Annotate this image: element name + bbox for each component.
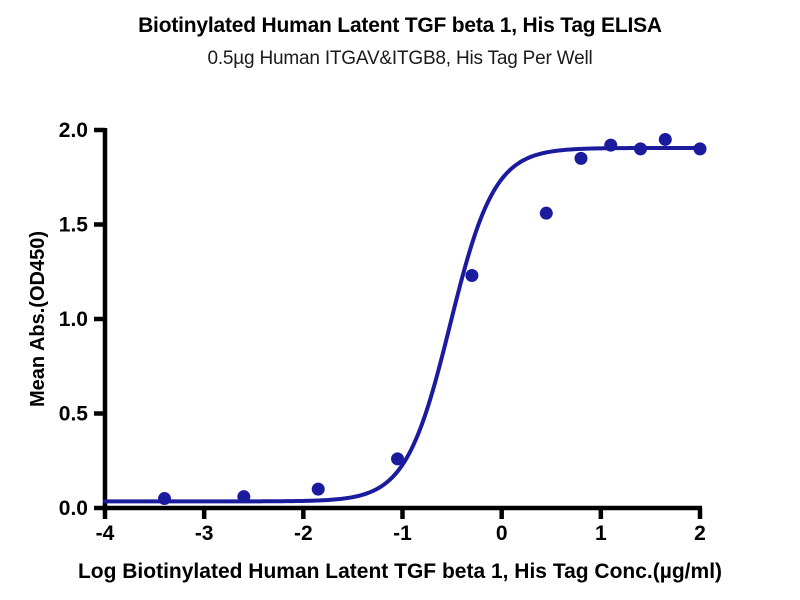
y-axis-label: Mean Abs.(OD450) — [27, 231, 49, 407]
x-tick-label: -1 — [393, 522, 412, 545]
data-point — [604, 139, 617, 152]
x-tick-label: 1 — [595, 522, 607, 545]
data-point — [237, 490, 250, 503]
x-tick-group: -4-3-2-1012 — [96, 508, 706, 545]
data-point — [391, 452, 404, 465]
data-point — [158, 492, 171, 505]
y-tick-label: 1.0 — [59, 308, 88, 331]
data-point — [312, 483, 325, 496]
x-tick-label: 2 — [694, 522, 706, 545]
x-tick-label: -2 — [294, 522, 313, 545]
x-tick-label: -4 — [96, 522, 115, 545]
data-point — [465, 269, 478, 282]
y-tick-label: 0.5 — [59, 403, 89, 426]
x-tick-label: -3 — [195, 522, 214, 545]
elisa-chart-figure: Biotinylated Human Latent TGF beta 1, Hi… — [0, 0, 800, 600]
data-point — [540, 207, 553, 220]
y-tick-label: 0.0 — [59, 497, 88, 520]
y-tick-label: 1.5 — [59, 214, 89, 237]
data-point — [575, 152, 588, 165]
y-tick-group: 0.00.51.01.52.0 — [59, 119, 105, 520]
data-point-group — [158, 133, 707, 505]
x-tick-label: 0 — [496, 522, 508, 545]
plot-area: -4-3-2-1012 0.00.51.01.52.0 Mean Abs.(OD… — [0, 0, 800, 600]
axes-group — [103, 128, 702, 508]
fit-curve — [105, 148, 700, 501]
data-point — [634, 142, 647, 155]
data-point — [694, 142, 707, 155]
data-point — [659, 133, 672, 146]
x-axis-label: Log Biotinylated Human Latent TGF beta 1… — [78, 560, 722, 583]
y-tick-label: 2.0 — [59, 119, 88, 142]
